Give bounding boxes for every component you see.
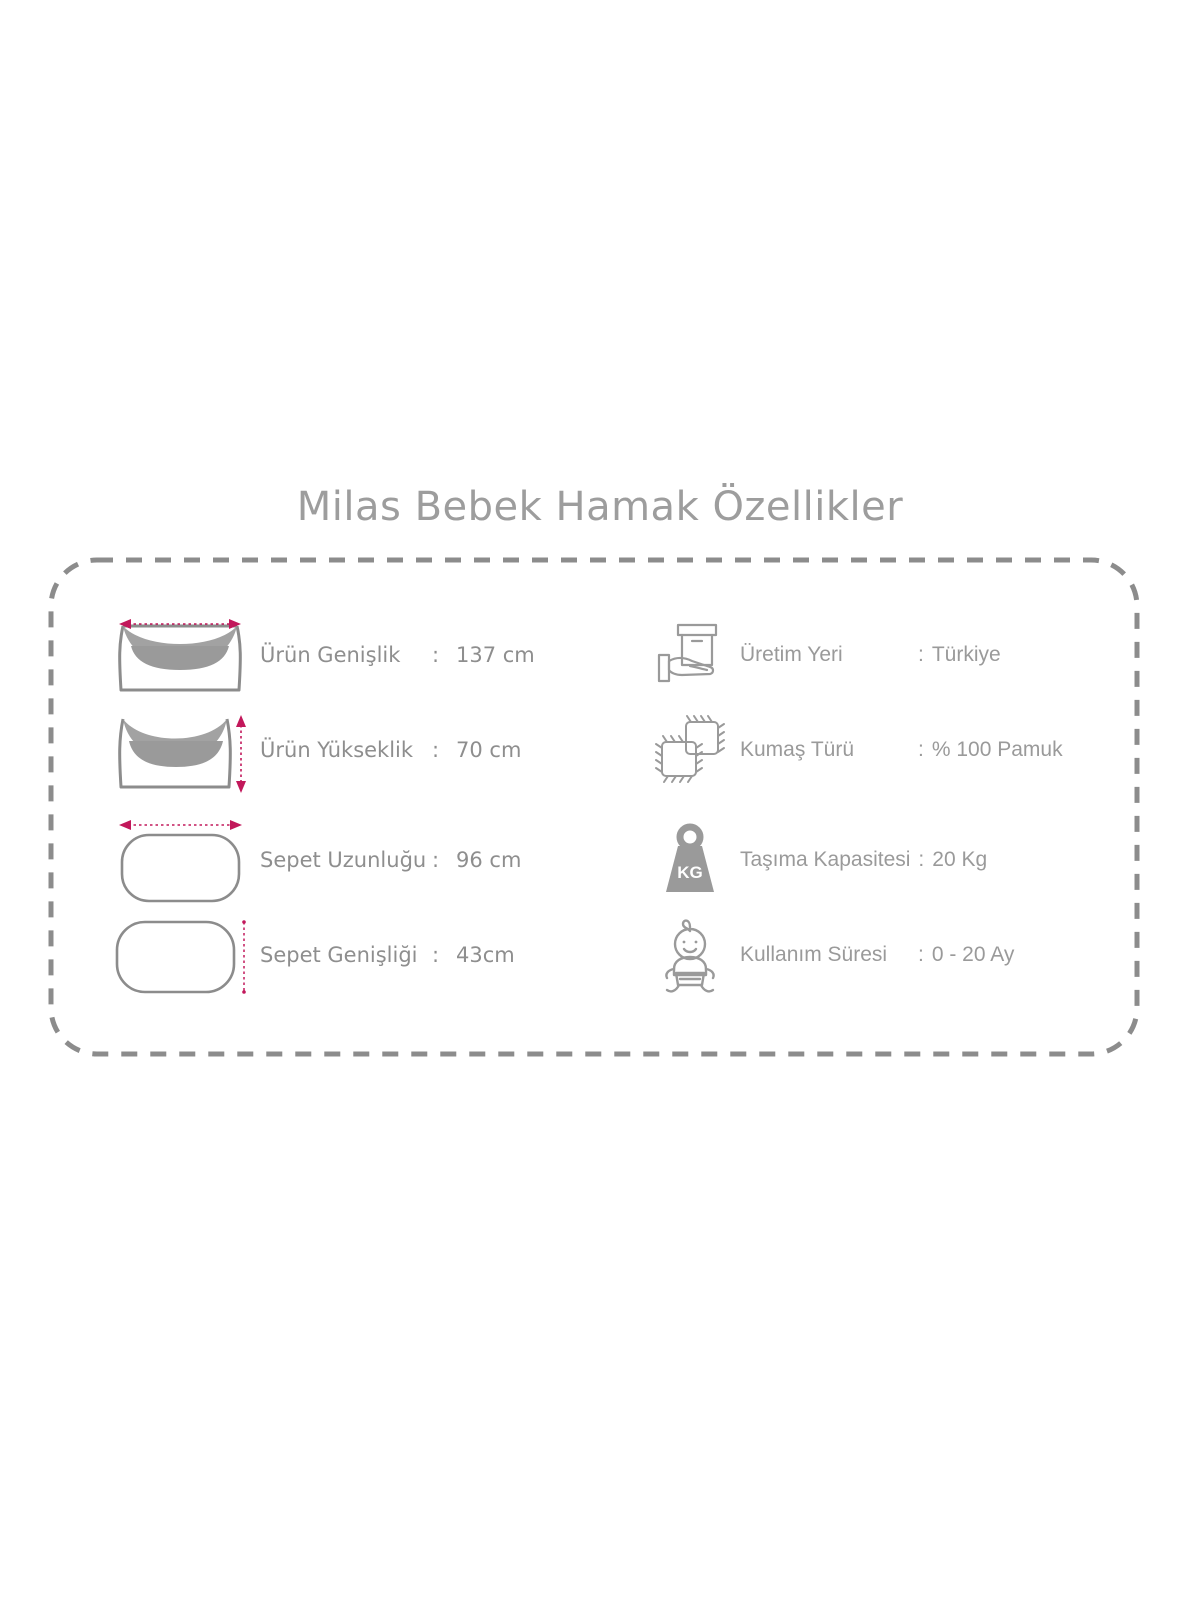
spec-text: Ürün Yükseklik : 70 cm <box>260 738 521 762</box>
spec-colon: : <box>432 943 456 967</box>
spec-panel: Ürün Genişlik : 137 cm <box>48 557 1140 1057</box>
spec-colon: : <box>918 738 932 762</box>
spec-colon: : <box>918 943 932 967</box>
spec-value: 43cm <box>456 943 515 967</box>
spec-colon: : <box>918 848 932 872</box>
spec-label: Üretim Yeri <box>740 643 918 667</box>
basket-width-icon <box>100 905 260 1005</box>
hammock-width-icon <box>100 605 260 705</box>
spec-text: Kumaş Türü : % 100 Pamuk <box>740 738 1063 762</box>
spec-label: Kumaş Türü <box>740 738 918 762</box>
spec-label: Taşıma Kapasitesi <box>740 848 918 872</box>
spec-text: Kullanım Süresi : 0 - 20 Ay <box>740 943 1014 967</box>
spec-label: Ürün Genişlik <box>260 643 432 667</box>
spec-colon: : <box>432 643 456 667</box>
spec-row-urun-yukseklik: Ürün Yükseklik : 70 cm <box>100 700 521 800</box>
spec-label: Sepet Genişliği <box>260 943 432 967</box>
spec-colon: : <box>432 738 456 762</box>
spec-value: 0 - 20 Ay <box>932 943 1015 967</box>
spec-value: 70 cm <box>456 738 521 762</box>
spec-row-sepet-uzunlugu: Sepet Uzunluğu : 96 cm <box>100 810 521 910</box>
spec-colon: : <box>432 848 456 872</box>
product-spec-sheet: Milas Bebek Hamak Özellikler <box>0 0 1200 1600</box>
page-title: Milas Bebek Hamak Özellikler <box>0 484 1200 530</box>
spec-label: Kullanım Süresi <box>740 943 918 967</box>
spec-label: Ürün Yükseklik <box>260 738 432 762</box>
spec-text: Taşıma Kapasitesi : 20 Kg <box>740 848 987 872</box>
weight-kg-icon: KG <box>640 810 740 910</box>
hammock-height-icon <box>100 700 260 800</box>
spec-colon: : <box>918 643 932 667</box>
spec-value: 137 cm <box>456 643 535 667</box>
spec-row-tasima-kapasitesi: KG Taşıma Kapasitesi : 20 Kg <box>640 810 987 910</box>
spec-row-uretim-yeri: Üretim Yeri : Türkiye <box>640 605 1001 705</box>
hand-holding-box-icon <box>640 605 740 705</box>
spec-row-sepet-genisligi: Sepet Genişliği : 43cm <box>100 905 515 1005</box>
spec-row-urun-genislik: Ürün Genişlik : 137 cm <box>100 605 535 705</box>
spec-text: Üretim Yeri : Türkiye <box>740 643 1001 667</box>
spec-text: Sepet Uzunluğu : 96 cm <box>260 848 521 872</box>
fabric-swatch-icon <box>640 700 740 800</box>
spec-text: Sepet Genişliği : 43cm <box>260 943 515 967</box>
spec-value: 20 Kg <box>932 848 987 872</box>
spec-value: 96 cm <box>456 848 521 872</box>
spec-label: Sepet Uzunluğu <box>260 848 432 872</box>
spec-row-kumas-turu: Kumaş Türü : % 100 Pamuk <box>640 700 1063 800</box>
weight-badge-label: KG <box>677 863 703 882</box>
baby-icon <box>640 905 740 1005</box>
spec-row-kullanim-suresi: Kullanım Süresi : 0 - 20 Ay <box>640 905 1014 1005</box>
spec-value: Türkiye <box>932 643 1001 667</box>
spec-text: Ürün Genişlik : 137 cm <box>260 643 535 667</box>
spec-value: % 100 Pamuk <box>932 738 1063 762</box>
basket-length-icon <box>100 810 260 910</box>
